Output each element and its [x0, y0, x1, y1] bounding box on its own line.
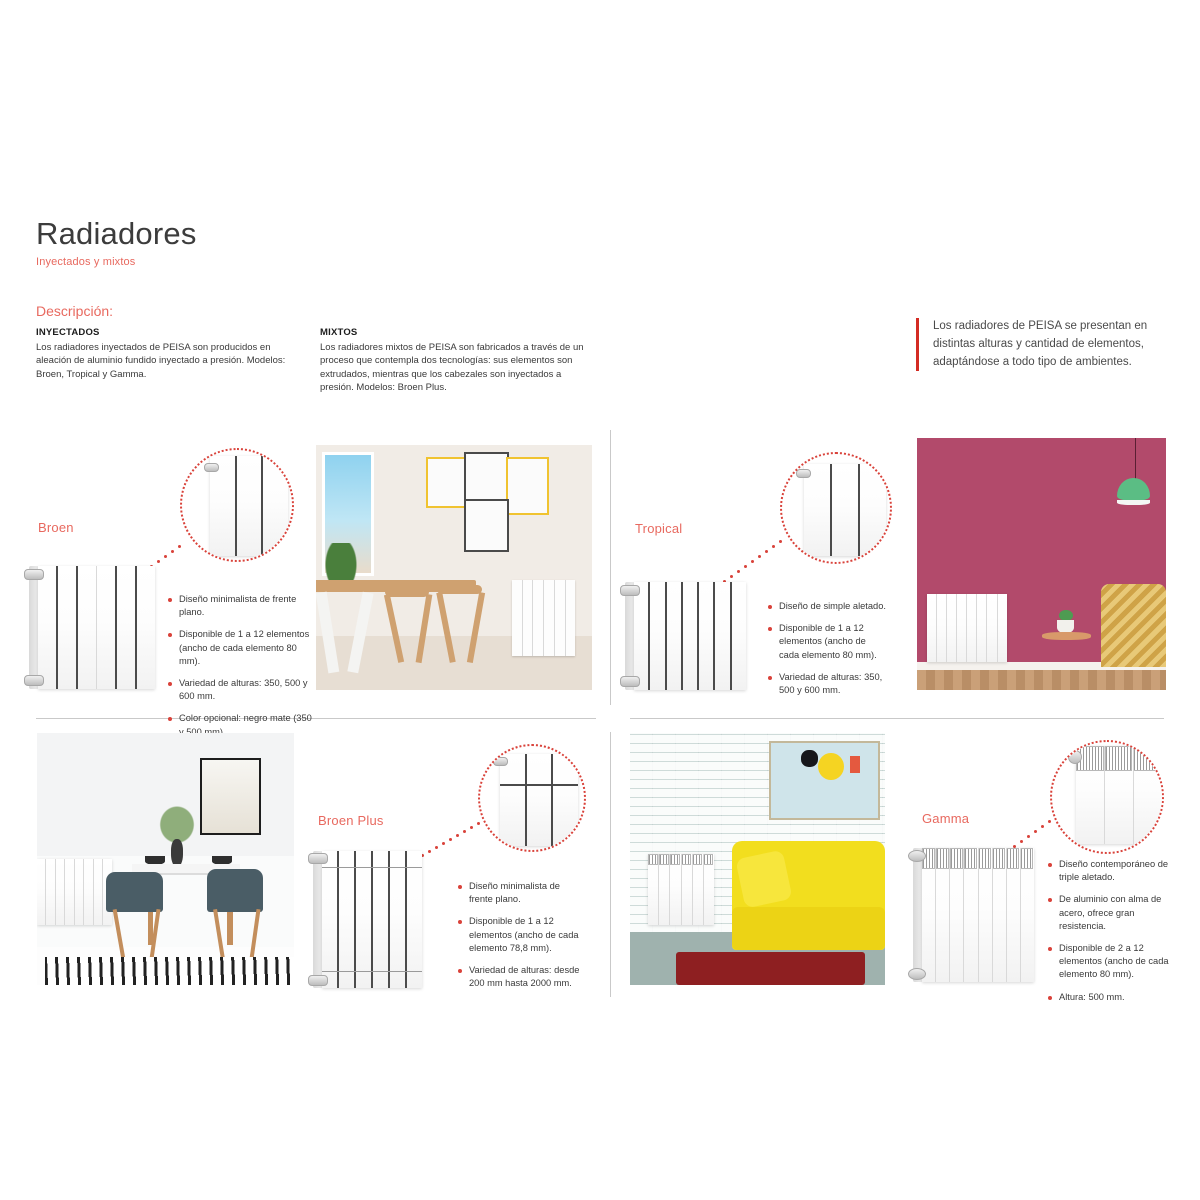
fin [527, 754, 554, 846]
radiator-valve-icon [796, 469, 811, 478]
fin [1007, 848, 1021, 982]
bullet-text: Disponible de 1 a 12 elementos (ancho de… [469, 915, 586, 955]
list-item: Disponible de 1 a 12 elementos (ancho de… [168, 628, 314, 668]
highlight-callout: Los radiadores de PEISA se presentan en … [916, 318, 1188, 371]
list-item: Diseño contemporáneo de triple aletado. [1048, 858, 1176, 884]
fin [75, 859, 84, 925]
bullet-text: Altura: 500 mm. [1059, 991, 1125, 1004]
fin [704, 854, 714, 925]
bullet-dot-icon [768, 627, 772, 631]
bullet-text: Variedad de alturas: 350, 500 y 600 mm. [179, 677, 314, 703]
fin [137, 566, 155, 689]
photo-radiator-fins [927, 594, 1007, 662]
radiator-valve-top-icon [908, 850, 926, 862]
radiator-detail-gamma [1076, 746, 1162, 844]
radiator-broen-fins [38, 566, 155, 689]
photo-radiator-fins [37, 859, 112, 925]
fin [732, 582, 746, 690]
zoom-callout-broen-plus [478, 744, 586, 852]
fin [263, 456, 288, 556]
zoom-callout-broen-plus-content [480, 746, 584, 850]
divider-vertical-top [610, 430, 611, 705]
photo-rug [45, 957, 294, 985]
highlight-text: Los radiadores de PEISA se presentan en … [933, 318, 1188, 371]
fin [46, 859, 55, 925]
photo-art-splatter [818, 753, 844, 780]
fin [1021, 848, 1034, 982]
photo-wall-art [464, 499, 509, 552]
fin [500, 754, 527, 846]
radiator-valve-bottom-icon [908, 968, 926, 980]
list-item: Diseño de simple aletado. [768, 600, 888, 613]
fin [670, 854, 681, 925]
fin [715, 582, 731, 690]
product-photo-tropical [917, 438, 1166, 690]
fin [648, 854, 659, 925]
radiator-tropical-fins [634, 582, 746, 690]
fin [566, 580, 576, 656]
fin [699, 582, 715, 690]
photo-radiator-fins [512, 580, 575, 656]
photo-pendant-lamp-rim [1117, 500, 1149, 506]
radiator-valve-bottom-icon [24, 675, 44, 686]
fin [650, 582, 666, 690]
radiator-seam [322, 867, 422, 868]
page-title: Radiadores [36, 218, 197, 251]
bullet-text: Diseño minimalista de frente plano. [179, 593, 314, 619]
radiator-catalog-page: Radiadores Inyectados y mixtos Descripci… [0, 0, 1200, 1200]
divider-horizontal-left [36, 718, 596, 719]
photo-side-table [1042, 632, 1092, 667]
photo-branches [155, 801, 199, 844]
bullet-text: Variedad de alturas: desde 200 mm hasta … [469, 964, 586, 990]
bullet-dot-icon [1048, 863, 1052, 867]
list-item: Disponible de 2 a 12 elementos (ancho de… [1048, 942, 1176, 982]
fin [634, 582, 650, 690]
fin [967, 594, 977, 662]
photo-radiator [512, 580, 575, 656]
bullet-dot-icon [458, 969, 462, 973]
bullet-dot-icon [768, 605, 772, 609]
bullet-dot-icon [168, 633, 172, 637]
radiator-detail-broen-plus-fins [500, 754, 578, 846]
photo-floor [917, 670, 1166, 690]
fin [667, 582, 683, 690]
photo-lamp-cord [1135, 438, 1136, 481]
bullet-dot-icon [168, 717, 172, 721]
inyectados-body: Los radiadores inyectados de PEISA son p… [36, 341, 304, 381]
fin [927, 594, 937, 662]
fin [937, 594, 947, 662]
bullet-list-broen: Diseño minimalista de frente plano. Disp… [168, 593, 314, 748]
bullet-list-tropical: Diseño de simple aletado. Disponible de … [768, 600, 888, 706]
fin [682, 854, 693, 925]
radiator-valve-icon [1068, 750, 1082, 764]
photo-chair [385, 587, 429, 597]
radiator-valve-top-icon [308, 853, 328, 864]
fin [544, 580, 555, 656]
list-item: De aluminio con alma de acero, ofrece gr… [1048, 893, 1176, 933]
product-photo-broen-plus [37, 733, 294, 985]
fin [65, 859, 74, 925]
radiator-valve-top-icon [620, 585, 640, 596]
fin [553, 754, 578, 846]
radiator-gamma [922, 848, 1034, 982]
fin [693, 854, 704, 925]
photo-sofa-seat [732, 907, 885, 950]
bullet-text: Diseño minimalista de frente plano. [469, 880, 586, 906]
photo-chair [437, 585, 481, 595]
fin [922, 848, 936, 982]
fin [390, 851, 407, 988]
photo-chair [106, 872, 163, 912]
fin [533, 580, 544, 656]
bullet-list-gamma: Diseño contemporáneo de triple aletado. … [1048, 858, 1176, 1013]
fin [38, 566, 58, 689]
zoom-callout-gamma [1050, 740, 1164, 854]
radiator-tropical [634, 582, 746, 690]
fin [957, 594, 967, 662]
fin [555, 580, 566, 656]
fin [1134, 746, 1162, 844]
radiator-valve-bottom-icon [308, 975, 328, 986]
bullet-text: Disponible de 1 a 12 elementos (ancho de… [179, 628, 314, 668]
radiator-broen-plus [322, 851, 422, 988]
radiator-detail-tropical-fins [804, 464, 886, 556]
bullet-dot-icon [768, 676, 772, 680]
fin [407, 851, 422, 988]
zoom-callout-tropical-content [782, 454, 890, 562]
fin [832, 464, 860, 556]
fin [964, 848, 978, 982]
fin [936, 848, 950, 982]
bullet-dot-icon [1048, 996, 1052, 1000]
fin [37, 859, 46, 925]
radiator-header-seam [500, 784, 578, 786]
description-column-inyectados: INYECTADOS Los radiadores inyectados de … [36, 327, 304, 381]
list-item: Variedad de alturas: 350, 500 y 600 mm. [768, 671, 888, 697]
product-name-broen-plus: Broen Plus [318, 813, 384, 828]
radiator-valve-icon [204, 463, 219, 472]
bullet-text: Disponible de 2 a 12 elementos (ancho de… [1059, 942, 1176, 982]
fin [94, 859, 103, 925]
inyectados-heading: INYECTADOS [36, 327, 304, 338]
fin [97, 566, 117, 689]
radiator-detail-tropical [804, 464, 886, 556]
list-item: Disponible de 1 a 12 elementos (ancho de… [768, 622, 888, 662]
list-item: Disponible de 1 a 12 elementos (ancho de… [458, 915, 586, 955]
radiator-broen-plus-fins [322, 851, 422, 988]
product-name-gamma: Gamma [922, 811, 969, 826]
photo-wall-art [200, 758, 261, 835]
page-header: Radiadores Inyectados y mixtos [36, 218, 197, 268]
radiator-detail-gamma-fins [1076, 746, 1162, 844]
divider-horizontal-right [630, 718, 1164, 719]
fin [356, 851, 373, 988]
photo-wall-art [506, 457, 549, 515]
photo-wall-art [769, 741, 880, 821]
fin [322, 851, 339, 988]
fin [659, 854, 670, 925]
fin [1105, 746, 1134, 844]
photo-radiator [648, 854, 714, 925]
radiator-gamma-fins [922, 848, 1034, 982]
bullet-dot-icon [458, 885, 462, 889]
bullet-text: De aluminio con alma de acero, ofrece gr… [1059, 893, 1176, 933]
list-item: Diseño minimalista de frente plano. [168, 593, 314, 619]
product-name-broen: Broen [38, 520, 74, 535]
fin [860, 464, 886, 556]
bullet-dot-icon [1048, 947, 1052, 951]
fin [237, 456, 264, 556]
photo-radiator [927, 594, 1007, 662]
zoom-callout-tropical [780, 452, 892, 564]
photo-radiator-fins [648, 854, 714, 925]
photo-art-splatter [801, 750, 818, 767]
radiator-broen [38, 566, 155, 689]
fin [979, 848, 993, 982]
radiator-detail-broen-plus [500, 754, 578, 846]
radiator-valve-bottom-icon [620, 676, 640, 687]
fin [523, 580, 534, 656]
fin [339, 851, 356, 988]
fin [78, 566, 97, 689]
divider-vertical-bottom [610, 732, 611, 997]
radiator-detail-broen-fins [210, 456, 288, 556]
bullet-text: Variedad de alturas: 350, 500 y 600 mm. [779, 671, 888, 697]
zoom-callout-broen-content [182, 450, 292, 560]
fin [947, 594, 957, 662]
bullet-text: Diseño de simple aletado. [779, 600, 886, 613]
fin [84, 859, 93, 925]
photo-rug [676, 952, 865, 985]
bullet-text: Diseño contemporáneo de triple aletado. [1059, 858, 1176, 884]
list-item: Variedad de alturas: 350, 500 y 600 mm. [168, 677, 314, 703]
bullet-list-broen-plus: Diseño minimalista de frente plano. Disp… [458, 880, 586, 999]
fin [977, 594, 987, 662]
fin [117, 566, 137, 689]
photo-vase [171, 839, 184, 867]
page-subtitle: Inyectados y mixtos [36, 256, 197, 268]
description-column-mixtos: MIXTOS Los radiadores mixtos de PEISA so… [320, 327, 595, 395]
radiator-valve-icon [493, 757, 508, 766]
zoom-callout-broen [180, 448, 294, 562]
fin [373, 851, 390, 988]
radiator-detail-broen [210, 456, 288, 556]
photo-wall-art [426, 457, 466, 508]
list-item: Variedad de alturas: desde 200 mm hasta … [458, 964, 586, 990]
fin [998, 594, 1007, 662]
radiator-valve-top-icon [24, 569, 44, 580]
radiator-seam [322, 971, 422, 972]
mixtos-body: Los radiadores mixtos de PEISA son fabri… [320, 341, 595, 395]
product-photo-broen [316, 445, 592, 690]
bullet-dot-icon [458, 920, 462, 924]
list-item: Diseño minimalista de frente plano. [458, 880, 586, 906]
bullet-text: Disponible de 1 a 12 elementos (ancho de… [779, 622, 888, 662]
fin [683, 582, 699, 690]
photo-armchair [1101, 584, 1166, 667]
fin [56, 859, 65, 925]
bullet-dot-icon [168, 682, 172, 686]
mixtos-heading: MIXTOS [320, 327, 595, 338]
fin [987, 594, 997, 662]
description-label: Descripción: [36, 303, 113, 319]
photo-art-splatter [850, 756, 860, 773]
fin [512, 580, 523, 656]
photo-cushion [735, 849, 793, 908]
photo-chair [207, 869, 264, 912]
fin [993, 848, 1007, 982]
photo-radiator [37, 859, 112, 925]
fin [58, 566, 78, 689]
fin [950, 848, 964, 982]
product-name-tropical: Tropical [635, 521, 682, 536]
product-photo-gamma [630, 733, 885, 985]
list-item: Altura: 500 mm. [1048, 991, 1176, 1004]
bullet-dot-icon [1048, 898, 1052, 902]
zoom-callout-gamma-content [1052, 742, 1162, 852]
bullet-dot-icon [168, 598, 172, 602]
photo-table-top [1042, 632, 1092, 640]
